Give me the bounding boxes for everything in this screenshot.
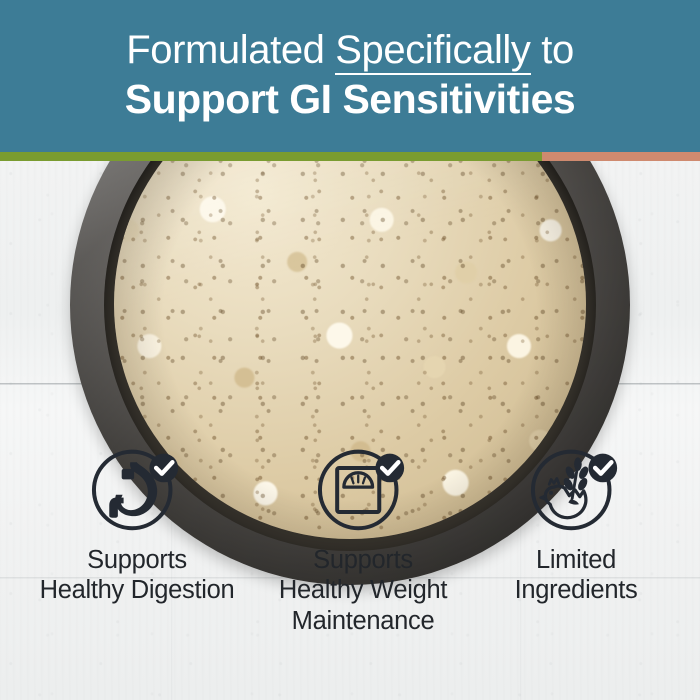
benefit-label-line: Supports	[87, 546, 187, 574]
benefit-label-line: Ingredients	[515, 576, 638, 604]
benefit-label-digestion: Supports Healthy Digestion	[40, 545, 235, 606]
header-banner: Formulated Specifically to Support GI Se…	[0, 0, 700, 152]
benefit-item-digestion: Supports Healthy Digestion	[24, 445, 250, 606]
headline-line-2: Support GI Sensitivities	[125, 77, 575, 123]
accent-stripe-green-segment	[0, 152, 542, 161]
stomach-check-icon	[89, 445, 185, 533]
headline-line-1-after: to	[531, 28, 574, 72]
accent-stripe	[0, 152, 700, 161]
headline-underlined-word: Specifically	[335, 28, 530, 75]
benefit-item-ingredients: Limited Ingredients	[476, 445, 676, 606]
benefits-row: Supports Healthy Digestion Supports Heal…	[0, 445, 700, 700]
headline-line-1: Formulated Specifically to	[126, 29, 574, 71]
benefit-label-ingredients: Limited Ingredients	[515, 545, 638, 606]
benefit-label-line: Healthy Digestion	[40, 576, 235, 604]
weight-scale-check-icon	[315, 445, 411, 533]
benefit-label-line: Limited	[536, 546, 616, 574]
benefit-label-weight: Supports Healthy Weight Maintenance	[279, 545, 447, 636]
promo-banner-page: Formulated Specifically to Support GI Se…	[0, 0, 700, 700]
benefit-label-line: Maintenance	[292, 607, 435, 635]
benefit-label-line: Supports	[313, 546, 413, 574]
headline-line-1-before: Formulated	[126, 28, 335, 72]
chicken-grain-check-icon	[528, 445, 624, 533]
benefit-item-weight: Supports Healthy Weight Maintenance	[250, 445, 476, 636]
benefit-label-line: Healthy Weight	[279, 576, 447, 604]
accent-stripe-salmon-segment	[542, 152, 700, 161]
